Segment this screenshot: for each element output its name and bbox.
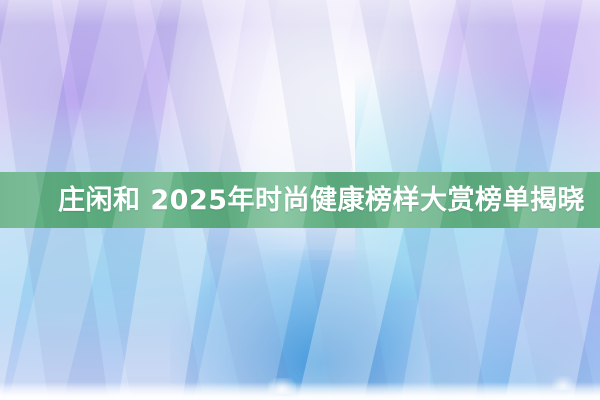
bottom-haze-strip	[0, 382, 600, 400]
poster-canvas: 庄闲和 2025年时尚健康榜样大赏榜单揭晓	[0, 0, 600, 400]
page-title: 庄闲和 2025年时尚健康榜样大赏榜单揭晓	[0, 172, 600, 228]
top-highlight-wash	[0, 0, 600, 26]
title-band: 庄闲和 2025年时尚健康榜样大赏榜单揭晓	[0, 172, 600, 228]
